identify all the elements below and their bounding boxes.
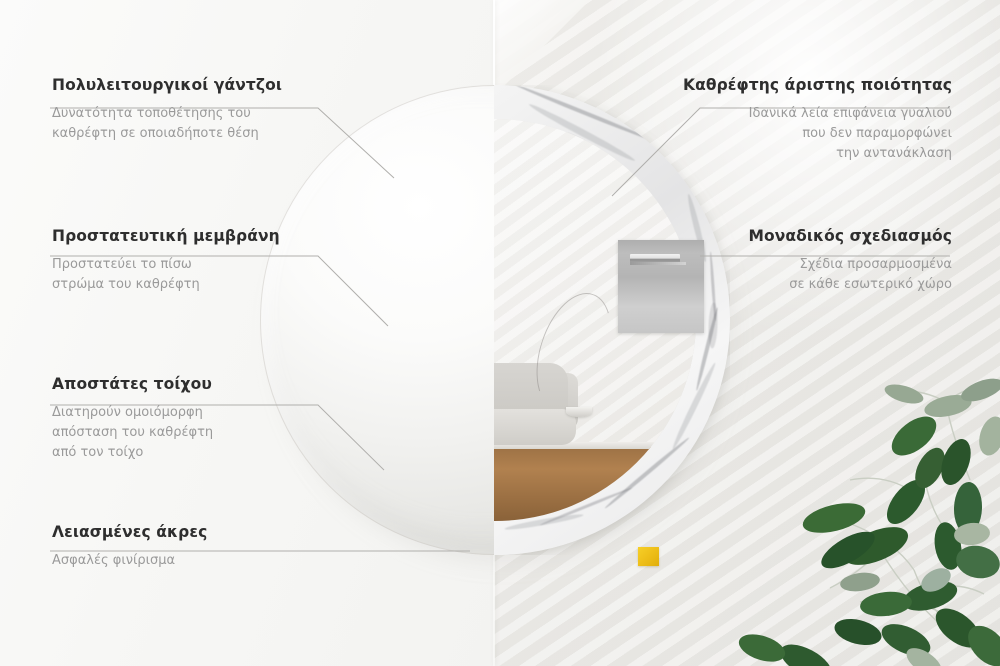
- callout-title: Μοναδικός σχεδιασμός: [748, 227, 952, 246]
- callout-smoothed-edges: Λειασμένες άκρες Ασφαλές φινίρισμα: [52, 523, 207, 571]
- callout-title: Αποστάτες τοίχου: [52, 375, 213, 394]
- callout-description: Προστατεύει το πίσωστρώμα του καθρέφτη: [52, 255, 280, 295]
- callout-title: Πολυλειτουργικοί γάντζοι: [52, 76, 282, 95]
- bracket-slot-lip: [630, 262, 686, 265]
- callout-title: Λειασμένες άκρες: [52, 523, 207, 542]
- product-mirror: [260, 85, 730, 555]
- callout-protective-membrane: Προστατευτική μεμβράνη Προστατεύει το πί…: [52, 227, 280, 295]
- callout-unique-design: Μοναδικός σχεδιασμός Σχέδια προσαρμοσμέν…: [748, 227, 952, 295]
- yellow-wall-spacer: [638, 547, 659, 566]
- callout-wall-spacers: Αποστάτες τοίχου Διατηρούν ομοιόμορφηαπό…: [52, 375, 213, 463]
- callout-description: Σχέδια προσαρμοσμένασε κάθε εσωτερικό χώ…: [748, 255, 952, 295]
- callout-description: Ασφαλές φινίρισμα: [52, 551, 207, 571]
- callout-description: Ιδανικά λεία επιφάνεια γυαλιούπου δεν πα…: [683, 104, 952, 164]
- callout-title: Καθρέφτης άριστης ποιότητας: [683, 76, 952, 95]
- reflected-pendant-lamp-shade: [566, 407, 592, 417]
- callout-title: Προστατευτική μεμβράνη: [52, 227, 280, 246]
- callout-description: Δυνατότητα τοποθέτησης τουκαθρέφτη σε οπ…: [52, 104, 282, 144]
- callout-description: Διατηρούν ομοιόμορφηαπόσταση του καθρέφτ…: [52, 403, 213, 463]
- callout-top-quality-mirror: Καθρέφτης άριστης ποιότητας Ιδανικά λεία…: [683, 76, 952, 164]
- infographic-canvas: Πολυλειτουργικοί γάντζοι Δυνατότητα τοπο…: [0, 0, 1000, 666]
- callout-multifunctional-hooks: Πολυλειτουργικοί γάντζοι Δυνατότητα τοπο…: [52, 76, 282, 144]
- hanging-bracket: [618, 240, 704, 333]
